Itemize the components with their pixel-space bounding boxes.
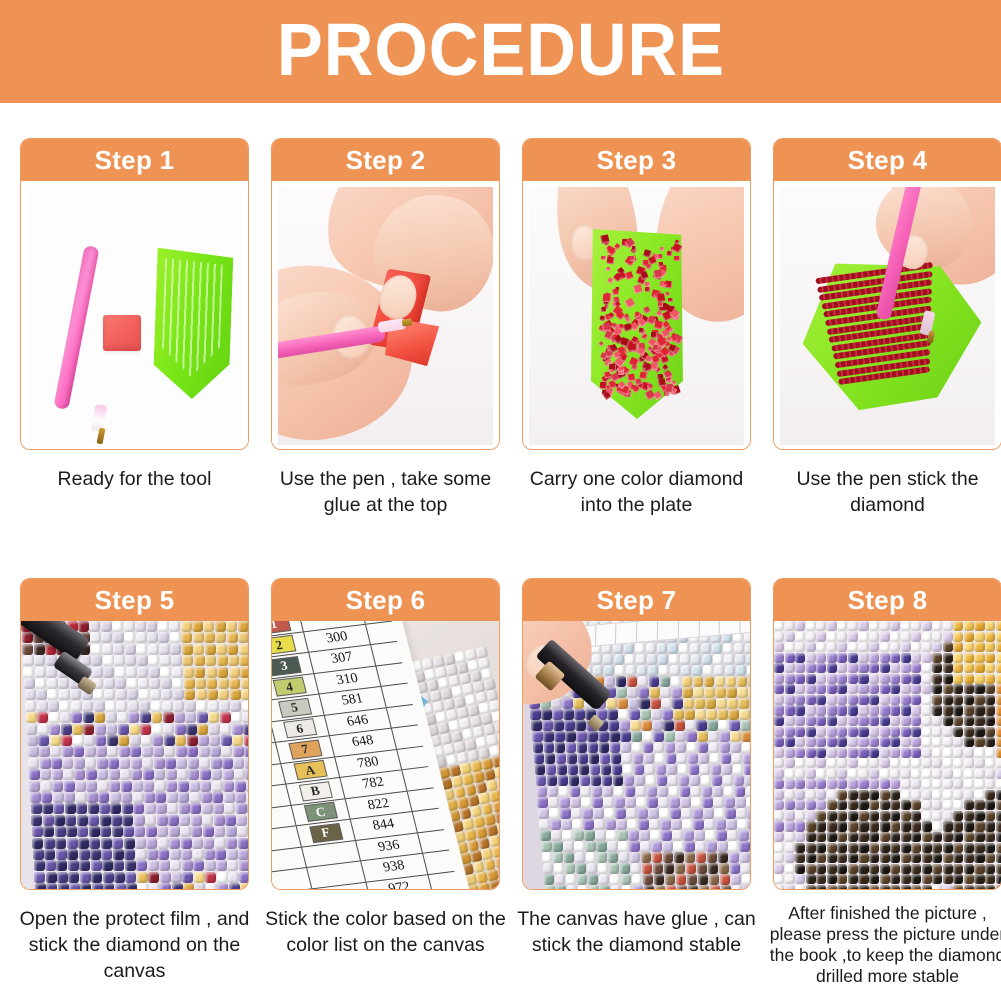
step-caption-3: Carry one color diamond into the plate <box>516 466 758 518</box>
step-cell-6: Step 6 112230033307443105558166646776488… <box>271 578 500 987</box>
step-cell-5: Step 5 Open the protect film , and stick… <box>20 578 249 987</box>
step-cell-3: Step 3 Carry one color diamond into the … <box>522 138 751 518</box>
sticking-diamond-photo <box>523 621 750 890</box>
symbol-chip: C <box>303 802 337 822</box>
step-image-2 <box>272 181 499 450</box>
step-image-7 <box>523 621 750 890</box>
step-header-2: Step 2 <box>272 139 499 181</box>
step-cell-7: Step 7 <box>522 578 751 987</box>
step-image-1 <box>21 181 248 450</box>
step-cell-2: Step 2 <box>271 138 500 518</box>
symbol-chip: A <box>293 760 327 780</box>
diamonds-in-plate-photo <box>529 187 744 445</box>
step-card-4[interactable]: Step 4 <box>773 138 1001 450</box>
step-card-1[interactable]: Step 1 <box>20 138 249 450</box>
step-caption-1: Ready for the tool <box>14 466 256 492</box>
step-caption-2: Use the pen , take some glue at the top <box>265 466 507 518</box>
step-header-6: Step 6 <box>272 579 499 621</box>
legend-cell <box>741 621 750 633</box>
legend-cell <box>596 624 617 646</box>
step-caption-8: After finished the picture , please pres… <box>763 903 1001 987</box>
step-cell-8: Step 8 After finished the picture , plea… <box>773 578 1001 987</box>
legend-cell <box>637 621 658 642</box>
symbol-chip: 1 <box>272 621 291 634</box>
step-image-3 <box>523 181 750 450</box>
step-card-3[interactable]: Step 3 <box>522 138 751 450</box>
legend-cell <box>720 621 741 635</box>
symbol-chip: 7 <box>288 739 322 759</box>
step-caption-5: Open the protect film , and stick the di… <box>14 906 256 984</box>
symbol-chip: 4 <box>272 677 306 697</box>
pink-pen-icon <box>53 245 99 410</box>
page-header-banner: PROCEDURE <box>0 0 1001 103</box>
step-caption-7: The canvas have glue , can stick the dia… <box>516 906 758 958</box>
steps-row-bottom: Step 5 Open the protect film , and stick… <box>20 578 981 987</box>
step-card-7[interactable]: Step 7 <box>522 578 751 890</box>
step-caption-4: Use the pen stick the diamond <box>767 466 1001 518</box>
red-diamonds-group <box>599 233 675 393</box>
legend-cell <box>699 621 720 636</box>
step-header-4: Step 4 <box>774 139 1001 181</box>
step-card-5[interactable]: Step 5 <box>20 578 249 890</box>
step-card-8[interactable]: Step 8 <box>773 578 1001 890</box>
bead-canvas <box>774 621 1001 890</box>
step-image-4 <box>774 181 1001 450</box>
glue-square-icon <box>103 315 141 351</box>
tools-photo <box>27 187 242 445</box>
step-caption-6: Stick the color based on the color list … <box>265 906 507 958</box>
steps-row-top: Step 1 Ready for the tool Step 2 <box>20 138 981 518</box>
step-cell-1: Step 1 Ready for the tool <box>20 138 249 518</box>
symbol-chip: 3 <box>272 656 301 676</box>
legend-cell <box>616 622 637 644</box>
step-image-6: 112230033307443105558166646776488A780B78… <box>272 621 499 890</box>
step-cell-4: Step 4 Use the pen stick the diamond <box>773 138 1001 518</box>
procedure-infographic: PROCEDURE Step 1 Ready for the to <box>0 0 1001 1001</box>
symbol-chip: B <box>298 781 332 801</box>
legend-cell <box>679 621 700 638</box>
legend-cell <box>658 621 679 640</box>
symbol-chip: 5 <box>277 698 311 718</box>
finished-painting-photo <box>774 621 1001 890</box>
step-header-1: Step 1 <box>21 139 248 181</box>
color-chart-photo: 112230033307443105558166646776488A780B78… <box>272 621 499 890</box>
step-image-8 <box>774 621 1001 890</box>
glue-dipping-photo <box>278 187 493 445</box>
step-header-5: Step 5 <box>21 579 248 621</box>
step-image-5 <box>21 621 248 890</box>
step-header-8: Step 8 <box>774 579 1001 621</box>
chart-cell-no <box>272 868 312 890</box>
symbol-chip: 6 <box>283 719 317 739</box>
canvas-closeup-photo <box>21 621 248 890</box>
symbol-chip: 2 <box>272 635 296 655</box>
step-header-7: Step 7 <box>523 579 750 621</box>
page-title: PROCEDURE <box>276 13 724 91</box>
symbol-chip: F <box>309 823 343 843</box>
step-header-3: Step 3 <box>523 139 750 181</box>
step-card-6[interactable]: Step 6 112230033307443105558166646776488… <box>271 578 500 890</box>
step-card-2[interactable]: Step 2 <box>271 138 500 450</box>
pick-diamond-photo <box>780 187 995 445</box>
